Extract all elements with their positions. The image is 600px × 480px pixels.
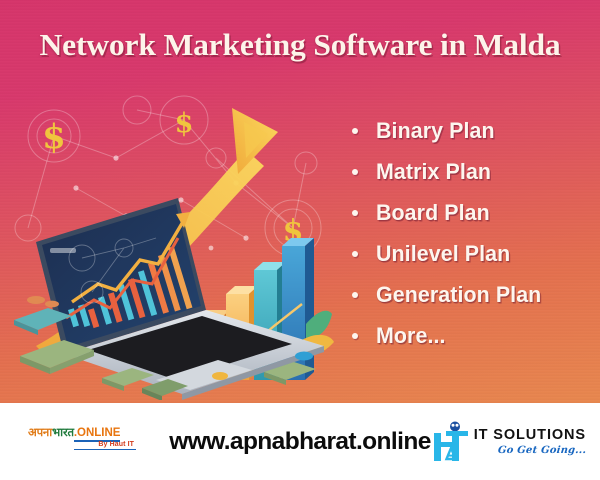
list-item[interactable]: Generation Plan — [352, 274, 592, 315]
bullet-dot-icon — [352, 333, 358, 339]
hero-background: $ $ $ — [0, 0, 600, 403]
list-item[interactable]: Matrix Plan — [352, 151, 592, 192]
apnabharat-online-logo[interactable]: अपनाभारत.ONLINE By Haut IT — [28, 427, 136, 450]
bullet-dot-icon — [352, 169, 358, 175]
logo-domain-suffix: .ONLINE — [74, 427, 121, 442]
list-item-label: Board Plan — [376, 200, 490, 226]
poster-root: $ $ $ — [0, 0, 600, 480]
plan-list: Binary Plan Matrix Plan Board Plan Unile… — [352, 110, 592, 356]
list-item[interactable]: Unilevel Plan — [352, 233, 592, 274]
list-item[interactable]: More... — [352, 315, 592, 356]
ht-monogram-icon — [430, 421, 470, 463]
list-item[interactable]: Board Plan — [352, 192, 592, 233]
it-solutions-tagline: Go Get Going... — [473, 445, 586, 456]
svg-text:$: $ — [42, 117, 66, 157]
logo-byline: By Haut IT — [74, 441, 136, 450]
ht-it-solutions-logo[interactable]: IT SOLUTIONS Go Get Going... — [430, 421, 586, 463]
list-item[interactable]: Binary Plan — [352, 110, 592, 151]
list-item-label: Unilevel Plan — [376, 241, 510, 267]
website-url[interactable]: www.apnabharat.online — [169, 428, 430, 456]
bullet-dot-icon — [352, 128, 358, 134]
logo-hindi-text: अपनाभारत — [28, 427, 74, 439]
bullet-dot-icon — [352, 210, 358, 216]
footer-band: अपनाभारत.ONLINE By Haut IT www.apnabhara… — [0, 403, 600, 480]
list-item-label: More... — [376, 323, 446, 349]
list-item-label: Generation Plan — [376, 282, 541, 308]
list-item-label: Binary Plan — [376, 118, 495, 144]
it-solutions-title: IT SOLUTIONS — [474, 428, 586, 443]
laptop-growth-chart-illustration: $ $ $ — [6, 88, 336, 400]
page-title: Network Marketing Software in Malda — [0, 27, 600, 63]
svg-text:$: $ — [175, 108, 194, 139]
bullet-dot-icon — [352, 292, 358, 298]
bullet-dot-icon — [352, 251, 358, 257]
list-item-label: Matrix Plan — [376, 159, 491, 185]
